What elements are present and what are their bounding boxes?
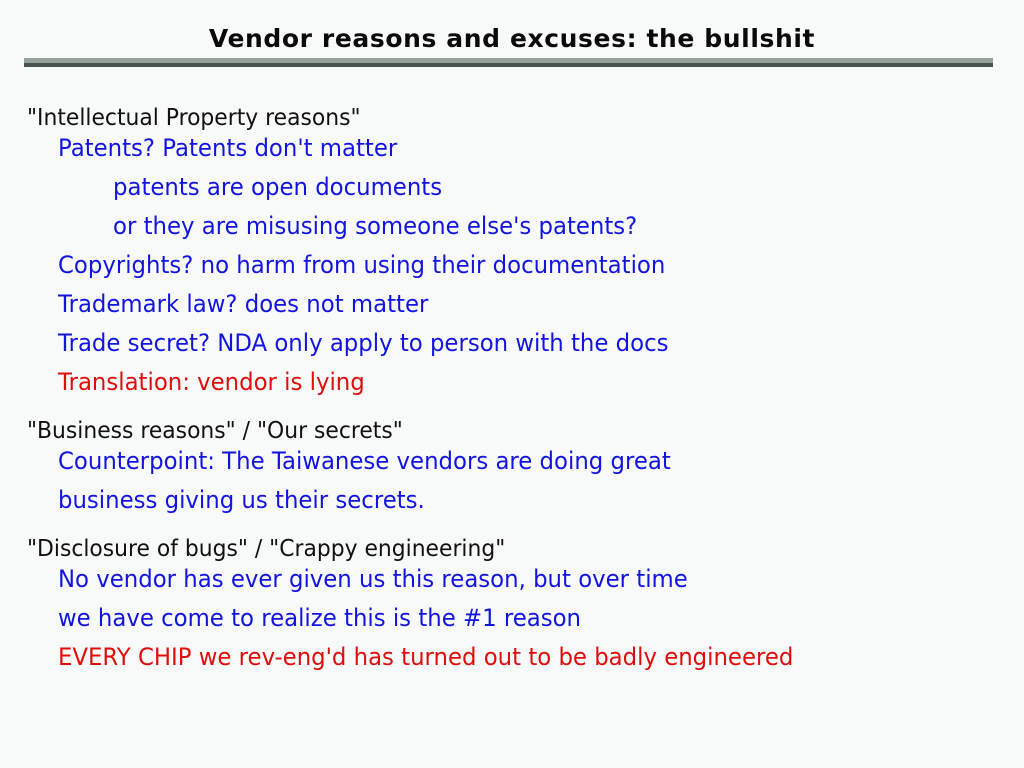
- outline-line: Trade secret? NDA only apply to person w…: [58, 329, 668, 358]
- section-heading: "Intellectual Property reasons": [27, 104, 361, 132]
- outline-line: No vendor has ever given us this reason,…: [58, 565, 688, 594]
- title-divider-rule: [24, 58, 993, 67]
- outline-line: business giving us their secrets.: [58, 486, 425, 515]
- outline-line: patents are open documents: [113, 173, 442, 202]
- divider-band-dark: [24, 63, 993, 67]
- slide-canvas: Vendor reasons and excuses: the bullshit…: [0, 0, 1024, 768]
- outline-line: Trademark law? does not matter: [58, 290, 428, 319]
- title-block: Vendor reasons and excuses: the bullshit: [0, 24, 1024, 54]
- outline-line: Copyrights? no harm from using their doc…: [58, 251, 665, 280]
- section-heading: "Business reasons" / "Our secrets": [27, 417, 403, 445]
- outline-line: Patents? Patents don't matter: [58, 134, 397, 163]
- outline-line: EVERY CHIP we rev-eng'd has turned out t…: [58, 643, 793, 672]
- outline-line: Counterpoint: The Taiwanese vendors are …: [58, 447, 671, 476]
- section-heading: "Disclosure of bugs" / "Crappy engineeri…: [27, 535, 505, 563]
- page-title: Vendor reasons and excuses: the bullshit: [209, 24, 815, 54]
- outline-line: we have come to realize this is the #1 r…: [58, 604, 581, 633]
- outline-line: or they are misusing someone else's pate…: [113, 212, 637, 241]
- outline-line: Translation: vendor is lying: [58, 368, 365, 397]
